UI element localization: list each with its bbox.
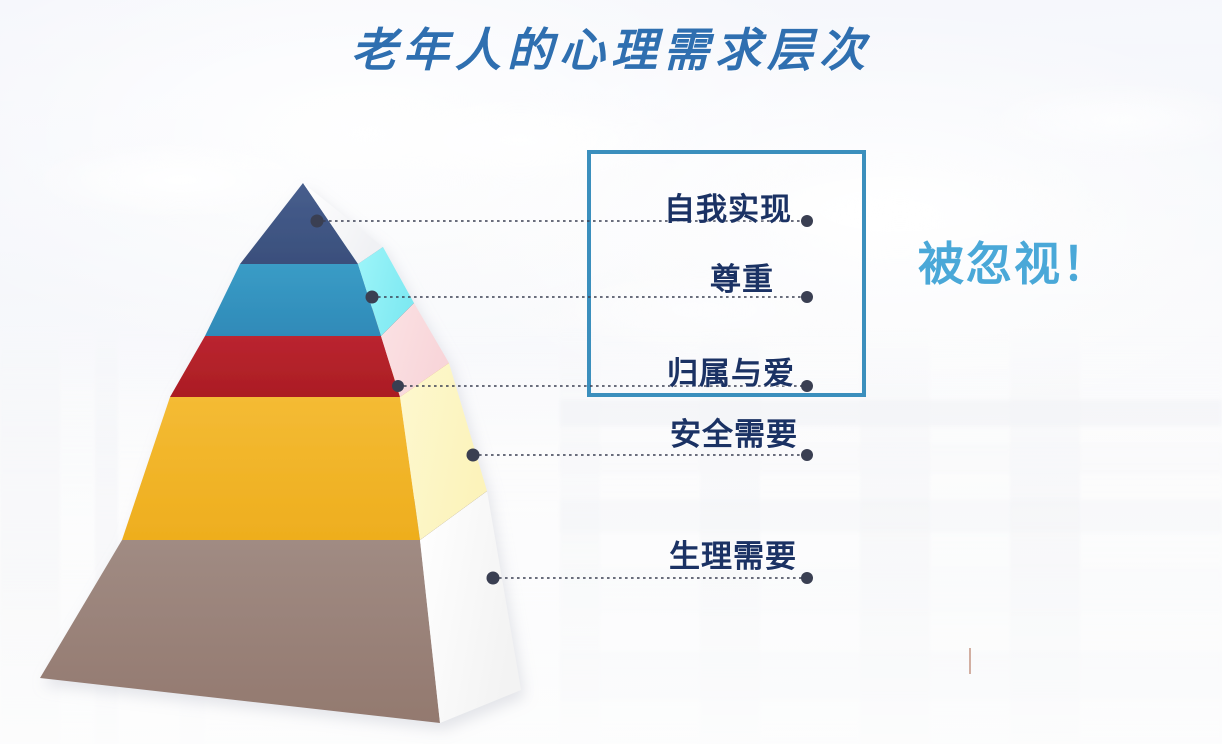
leader-dot-physiological-right bbox=[801, 572, 813, 584]
level-label-belonging: 归属与爱 bbox=[667, 348, 795, 393]
slide-canvas: 老年人的心理需求层次 bbox=[0, 0, 1222, 744]
leader-dot-safety-left bbox=[467, 449, 480, 462]
level-label-esteem: 尊重 bbox=[710, 254, 774, 299]
level-label-self-actualization: 自我实现 bbox=[664, 184, 792, 229]
level-label-safety: 安全需要 bbox=[670, 409, 798, 454]
leader-dot-self-actualization-right bbox=[801, 215, 813, 227]
callout-text: 被忽视！ bbox=[918, 228, 1110, 294]
level-label-physiological: 生理需要 bbox=[669, 531, 797, 576]
leader-dot-belonging-right bbox=[801, 380, 813, 392]
leader-dot-esteem-right bbox=[801, 291, 813, 303]
leader-dot-self-actualization-left bbox=[311, 215, 324, 228]
leader-dot-esteem-left bbox=[366, 291, 379, 304]
leader-dot-belonging-left bbox=[392, 380, 404, 392]
leader-dot-physiological-left bbox=[487, 572, 500, 585]
leader-dot-safety-right bbox=[801, 449, 813, 461]
leader-lines bbox=[0, 0, 1222, 744]
